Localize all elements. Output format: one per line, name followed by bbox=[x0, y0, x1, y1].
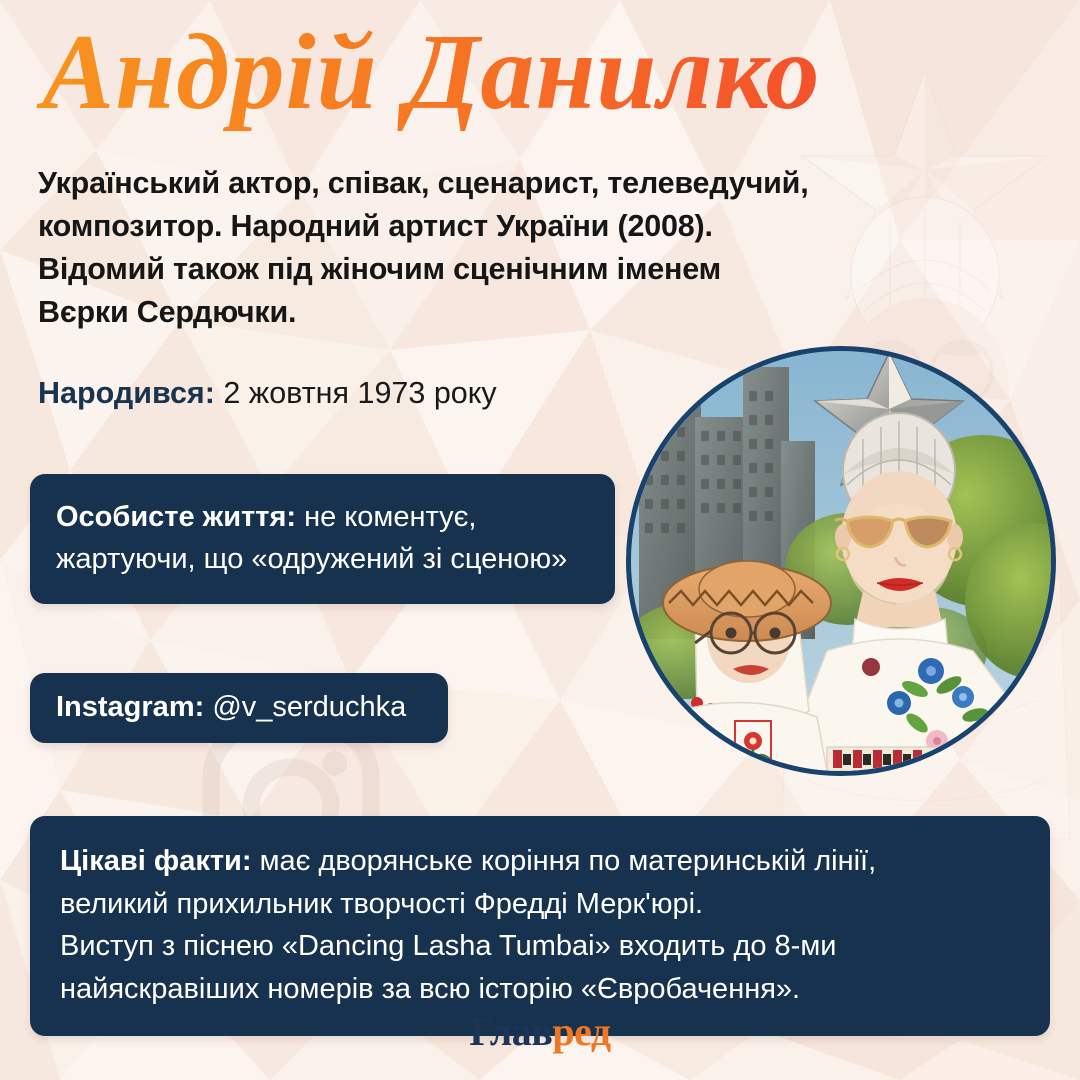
born-line: Народився: 2 жовтня 1973 року bbox=[38, 373, 497, 413]
page-title: Андрій Данилко bbox=[0, 8, 1080, 140]
brand-logo-part-a: Глав bbox=[469, 1009, 552, 1054]
personal-life-line-2: жартуючи, що «одружений зі сценою» bbox=[56, 538, 589, 580]
brand-logo-part-b: ред bbox=[552, 1009, 610, 1054]
infographic-page: Андрій Данилко Український актор, співак… bbox=[0, 0, 1080, 1080]
facts-line-2: великий прихильник творчості Фредді Мерк… bbox=[60, 883, 1020, 926]
brand-logo[interactable]: Главред bbox=[0, 1009, 1080, 1055]
intro-line-3: Відомий також під жіночим сценічним імен… bbox=[38, 248, 938, 291]
personal-life-card: Особисте життя: не коментує, жартуючи, щ… bbox=[30, 474, 615, 604]
facts-line-3: Виступ з піснею «Dancing Lasha Tumbai» в… bbox=[60, 925, 1020, 968]
page-title-text: Андрій Данилко bbox=[36, 13, 821, 132]
instagram-card[interactable]: Instagram: @v_serduchka bbox=[30, 673, 448, 743]
portrait-photo bbox=[626, 346, 1056, 776]
instagram-handle[interactable]: @v_serduchka bbox=[212, 691, 406, 723]
born-value: 2 жовтня 1973 року bbox=[223, 376, 496, 410]
portrait-photo-illustration bbox=[631, 351, 1051, 771]
intro-line-4: Вєрки Сердючки. bbox=[38, 291, 938, 334]
instagram-label: Instagram: bbox=[56, 691, 204, 723]
intro-line-1: Український актор, співак, сценарист, те… bbox=[38, 162, 938, 205]
intro-paragraph: Український актор, співак, сценарист, те… bbox=[38, 162, 938, 334]
facts-value-1: має дворянське коріння по материнській л… bbox=[260, 845, 877, 877]
facts-label: Цікаві факти: bbox=[60, 845, 252, 877]
interesting-facts-card: Цікаві факти: має дворянське коріння по … bbox=[30, 816, 1050, 1036]
facts-line-1: Цікаві факти: має дворянське коріння по … bbox=[60, 840, 1020, 883]
intro-line-2: композитор. Народний артист України (200… bbox=[38, 205, 938, 248]
facts-line-4: найяскравіших номерів за всю історію «Єв… bbox=[60, 968, 1020, 1011]
born-label: Народився: bbox=[38, 376, 215, 410]
personal-life-line-1: Особисте життя: не коментує, bbox=[56, 496, 589, 538]
personal-life-label: Особисте життя: bbox=[56, 501, 296, 533]
personal-life-value-1: не коментує, bbox=[304, 501, 476, 533]
